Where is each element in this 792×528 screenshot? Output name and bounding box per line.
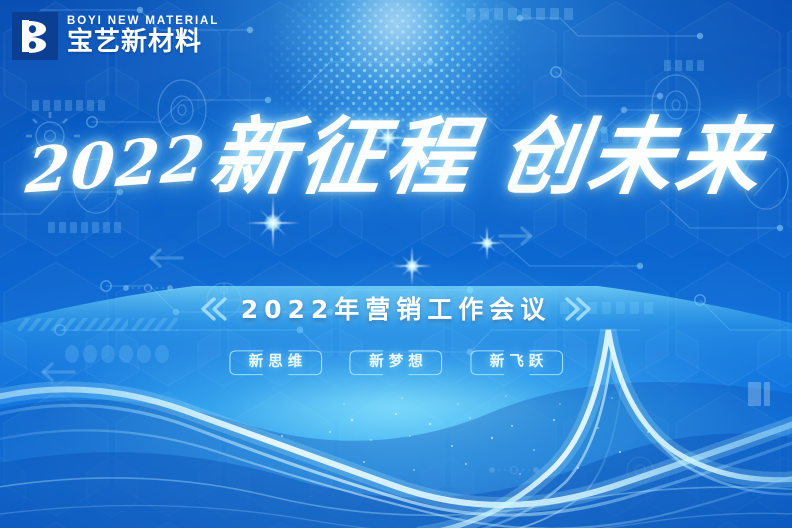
tagline-item: 新思维: [229, 350, 323, 376]
bracket-frame-icon: [229, 350, 323, 376]
bracket-frame-icon: [349, 350, 443, 376]
double-chevron-right-icon: [563, 296, 593, 322]
logo-chinese-name: 宝艺新材料: [67, 29, 219, 56]
logo-english-name: BOYI NEW MATERIAL: [67, 16, 219, 28]
bracket-frame-icon: [470, 350, 564, 376]
tagline-row: 新思维 新梦想: [0, 350, 792, 376]
slogan-part-1: 新征程: [205, 107, 483, 206]
subtitle-text: 2022年营销工作会议: [241, 297, 552, 322]
tagline-item: 新飞跃: [470, 350, 564, 376]
subtitle-row: 2022年营销工作会议: [0, 296, 792, 322]
headline-slogan: 新征程创未来: [205, 114, 771, 200]
boyi-logo: BOYI NEW MATERIAL 宝艺新材料: [12, 12, 219, 60]
headline-year: 2022: [24, 130, 209, 199]
conference-poster: BOYI NEW MATERIAL 宝艺新材料 2022 新征程创未来 2022…: [0, 0, 792, 528]
tagline-item: 新梦想: [349, 350, 443, 376]
boyi-b-monogram-icon: [12, 12, 58, 60]
headline-block: 2022 新征程创未来: [0, 112, 792, 200]
light-specks: [0, 0, 792, 528]
slogan-part-2: 创未来: [495, 107, 773, 206]
double-chevron-left-icon: [199, 296, 229, 322]
logo-wordmark: BOYI NEW MATERIAL 宝艺新材料: [67, 16, 219, 56]
